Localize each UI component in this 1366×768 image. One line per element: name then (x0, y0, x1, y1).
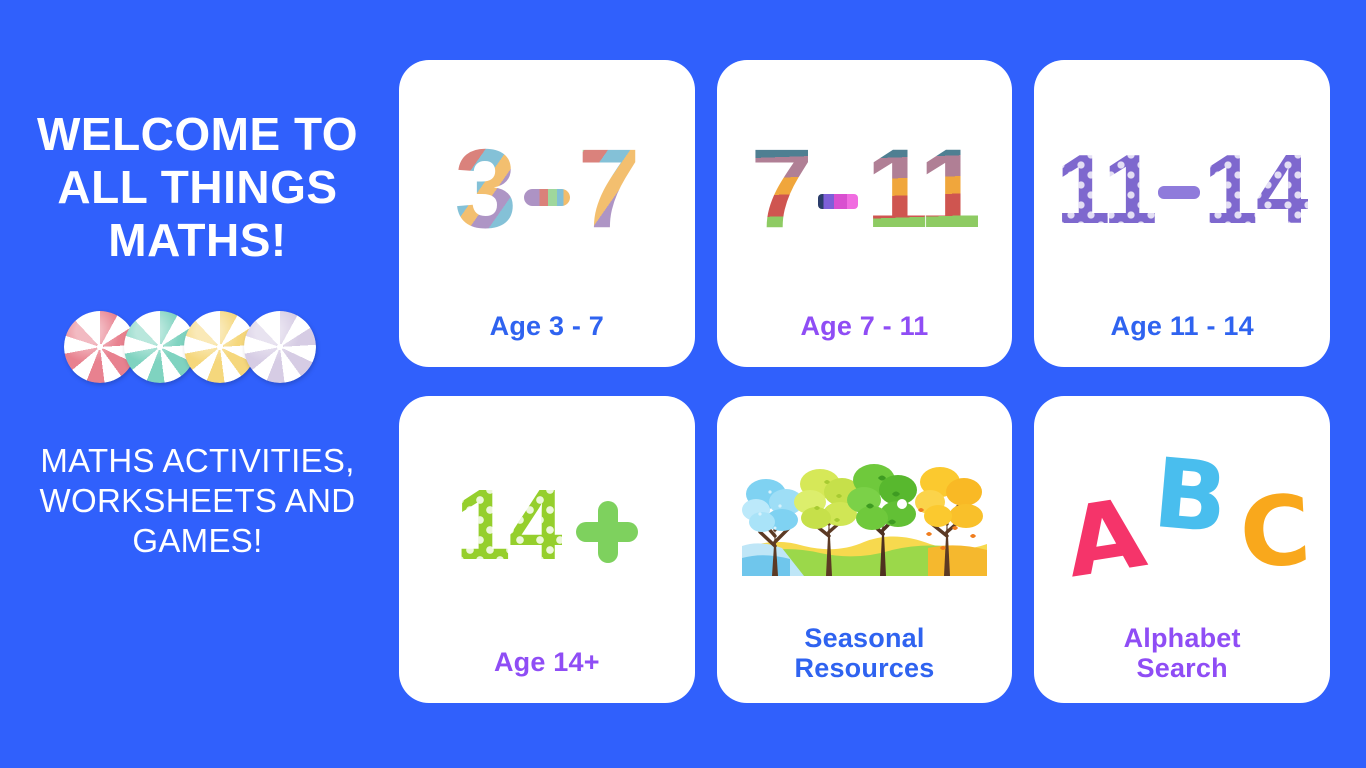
card-label-line1: Alphabet (1124, 623, 1241, 653)
page-title: Welcome to All Things Maths! (8, 108, 388, 267)
category-card-grid: 3 7 Age 3 - 7 7 11 Age 7 - 11 11 14 Age … (399, 60, 1330, 703)
candy-decoration-row (20, 311, 360, 383)
number-11-art: 11 (866, 133, 978, 245)
card-age-3-7[interactable]: 3 7 Age 3 - 7 (399, 60, 695, 367)
dash-separator-icon (524, 189, 570, 206)
card-label-age-3-7: Age 3 - 7 (480, 311, 614, 367)
number-3-art: 3 (455, 133, 516, 245)
card-art-age-14-plus: 14 (399, 396, 695, 647)
card-label-age-7-11: Age 7 - 11 (790, 311, 938, 367)
card-label-line1: Seasonal (795, 623, 935, 653)
card-art-age-7-11: 7 11 (717, 60, 1013, 311)
letter-a-icon: A (1059, 484, 1151, 591)
card-art-seasonal (717, 396, 1013, 623)
card-seasonal-resources[interactable]: Seasonal Resources (717, 396, 1013, 703)
four-season-trees-illustration (742, 458, 987, 576)
card-label-age-14-plus: Age 14+ (484, 647, 610, 703)
letter-c-icon: C (1238, 482, 1313, 582)
card-age-7-11[interactable]: 7 11 Age 7 - 11 (717, 60, 1013, 367)
card-label-alphabet-search: Alphabet Search (1114, 623, 1251, 703)
card-age-11-14[interactable]: 11 14 Age 11 - 14 (1034, 60, 1330, 367)
number-14-art: 14 (455, 475, 562, 575)
card-art-age-3-7: 3 7 (399, 60, 695, 311)
plus-sign-icon (576, 501, 638, 563)
number-11-art: 11 (1056, 140, 1156, 238)
candy-lavender-icon (244, 311, 316, 383)
card-label-seasonal-resources: Seasonal Resources (785, 623, 945, 703)
card-alphabet-search[interactable]: A B C Alphabet Search (1034, 396, 1330, 703)
card-label-line2: Search (1124, 653, 1241, 683)
dash-separator-icon (818, 194, 858, 209)
abc-letters-illustration: A B C (1062, 444, 1302, 584)
number-7-art: 7 (751, 133, 810, 245)
card-label-age-11-14: Age 11 - 14 (1101, 311, 1264, 367)
letter-b-icon: B (1150, 444, 1231, 546)
hero-panel: Welcome to All Things Maths! Maths Activ… (0, 0, 395, 768)
card-art-age-11-14: 11 14 (1034, 60, 1330, 311)
dash-separator-icon (1158, 186, 1200, 199)
number-14-art: 14 (1203, 140, 1308, 238)
card-art-alphabet: A B C (1034, 396, 1330, 623)
page-subtitle: Maths Activities, Worksheets and Games! (18, 441, 378, 561)
card-label-line2: Resources (795, 653, 935, 683)
card-age-14-plus[interactable]: 14 Age 14+ (399, 396, 695, 703)
number-7-art: 7 (578, 133, 639, 245)
